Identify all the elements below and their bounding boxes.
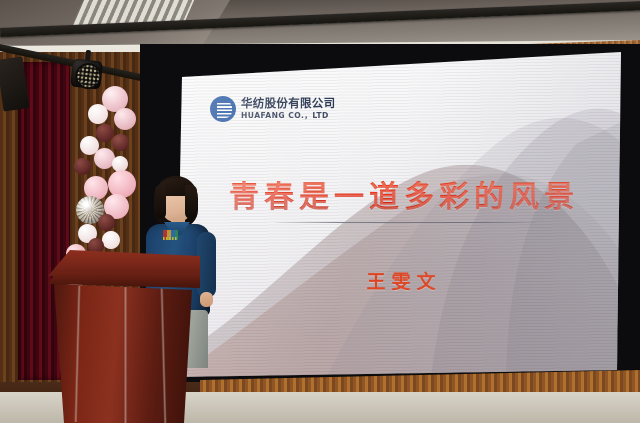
balloon	[74, 158, 91, 175]
projection-screen: 华纺股份有限公司 HUAFANG CO.，LTD 青春是一道多彩的风景 王雯文	[176, 52, 621, 377]
shirt-emblem-icon	[163, 230, 178, 240]
balloon	[102, 231, 120, 249]
presentation-slide: 华纺股份有限公司 HUAFANG CO.，LTD 青春是一道多彩的风景 王雯文	[176, 52, 621, 377]
balloon	[88, 104, 108, 124]
slide-divider	[276, 222, 536, 223]
company-name-en: HUAFANG CO.，LTD	[241, 112, 335, 120]
huafang-emblem-icon	[210, 96, 236, 122]
company-logo: 华纺股份有限公司 HUAFANG CO.，LTD	[210, 92, 360, 126]
presenter-name: 王雯文	[224, 267, 584, 294]
podium-accent-strip	[124, 287, 127, 423]
right-hand	[200, 292, 213, 307]
company-name-cn: 华纺股份有限公司	[241, 98, 335, 110]
balloon	[112, 134, 129, 151]
hair-side-left	[155, 185, 166, 219]
podium	[48, 250, 200, 423]
balloon	[114, 108, 136, 130]
podium-accent-strip	[160, 288, 167, 423]
podium-body	[52, 284, 192, 423]
podium-accent-strip	[74, 286, 81, 422]
photograph-scene: 华纺股份有限公司 HUAFANG CO.，LTD 青春是一道多彩的风景 王雯文	[0, 0, 640, 423]
slide-title: 青春是一道多彩的风景	[224, 172, 584, 216]
hair-side-right	[185, 185, 197, 219]
balloon	[98, 214, 115, 231]
